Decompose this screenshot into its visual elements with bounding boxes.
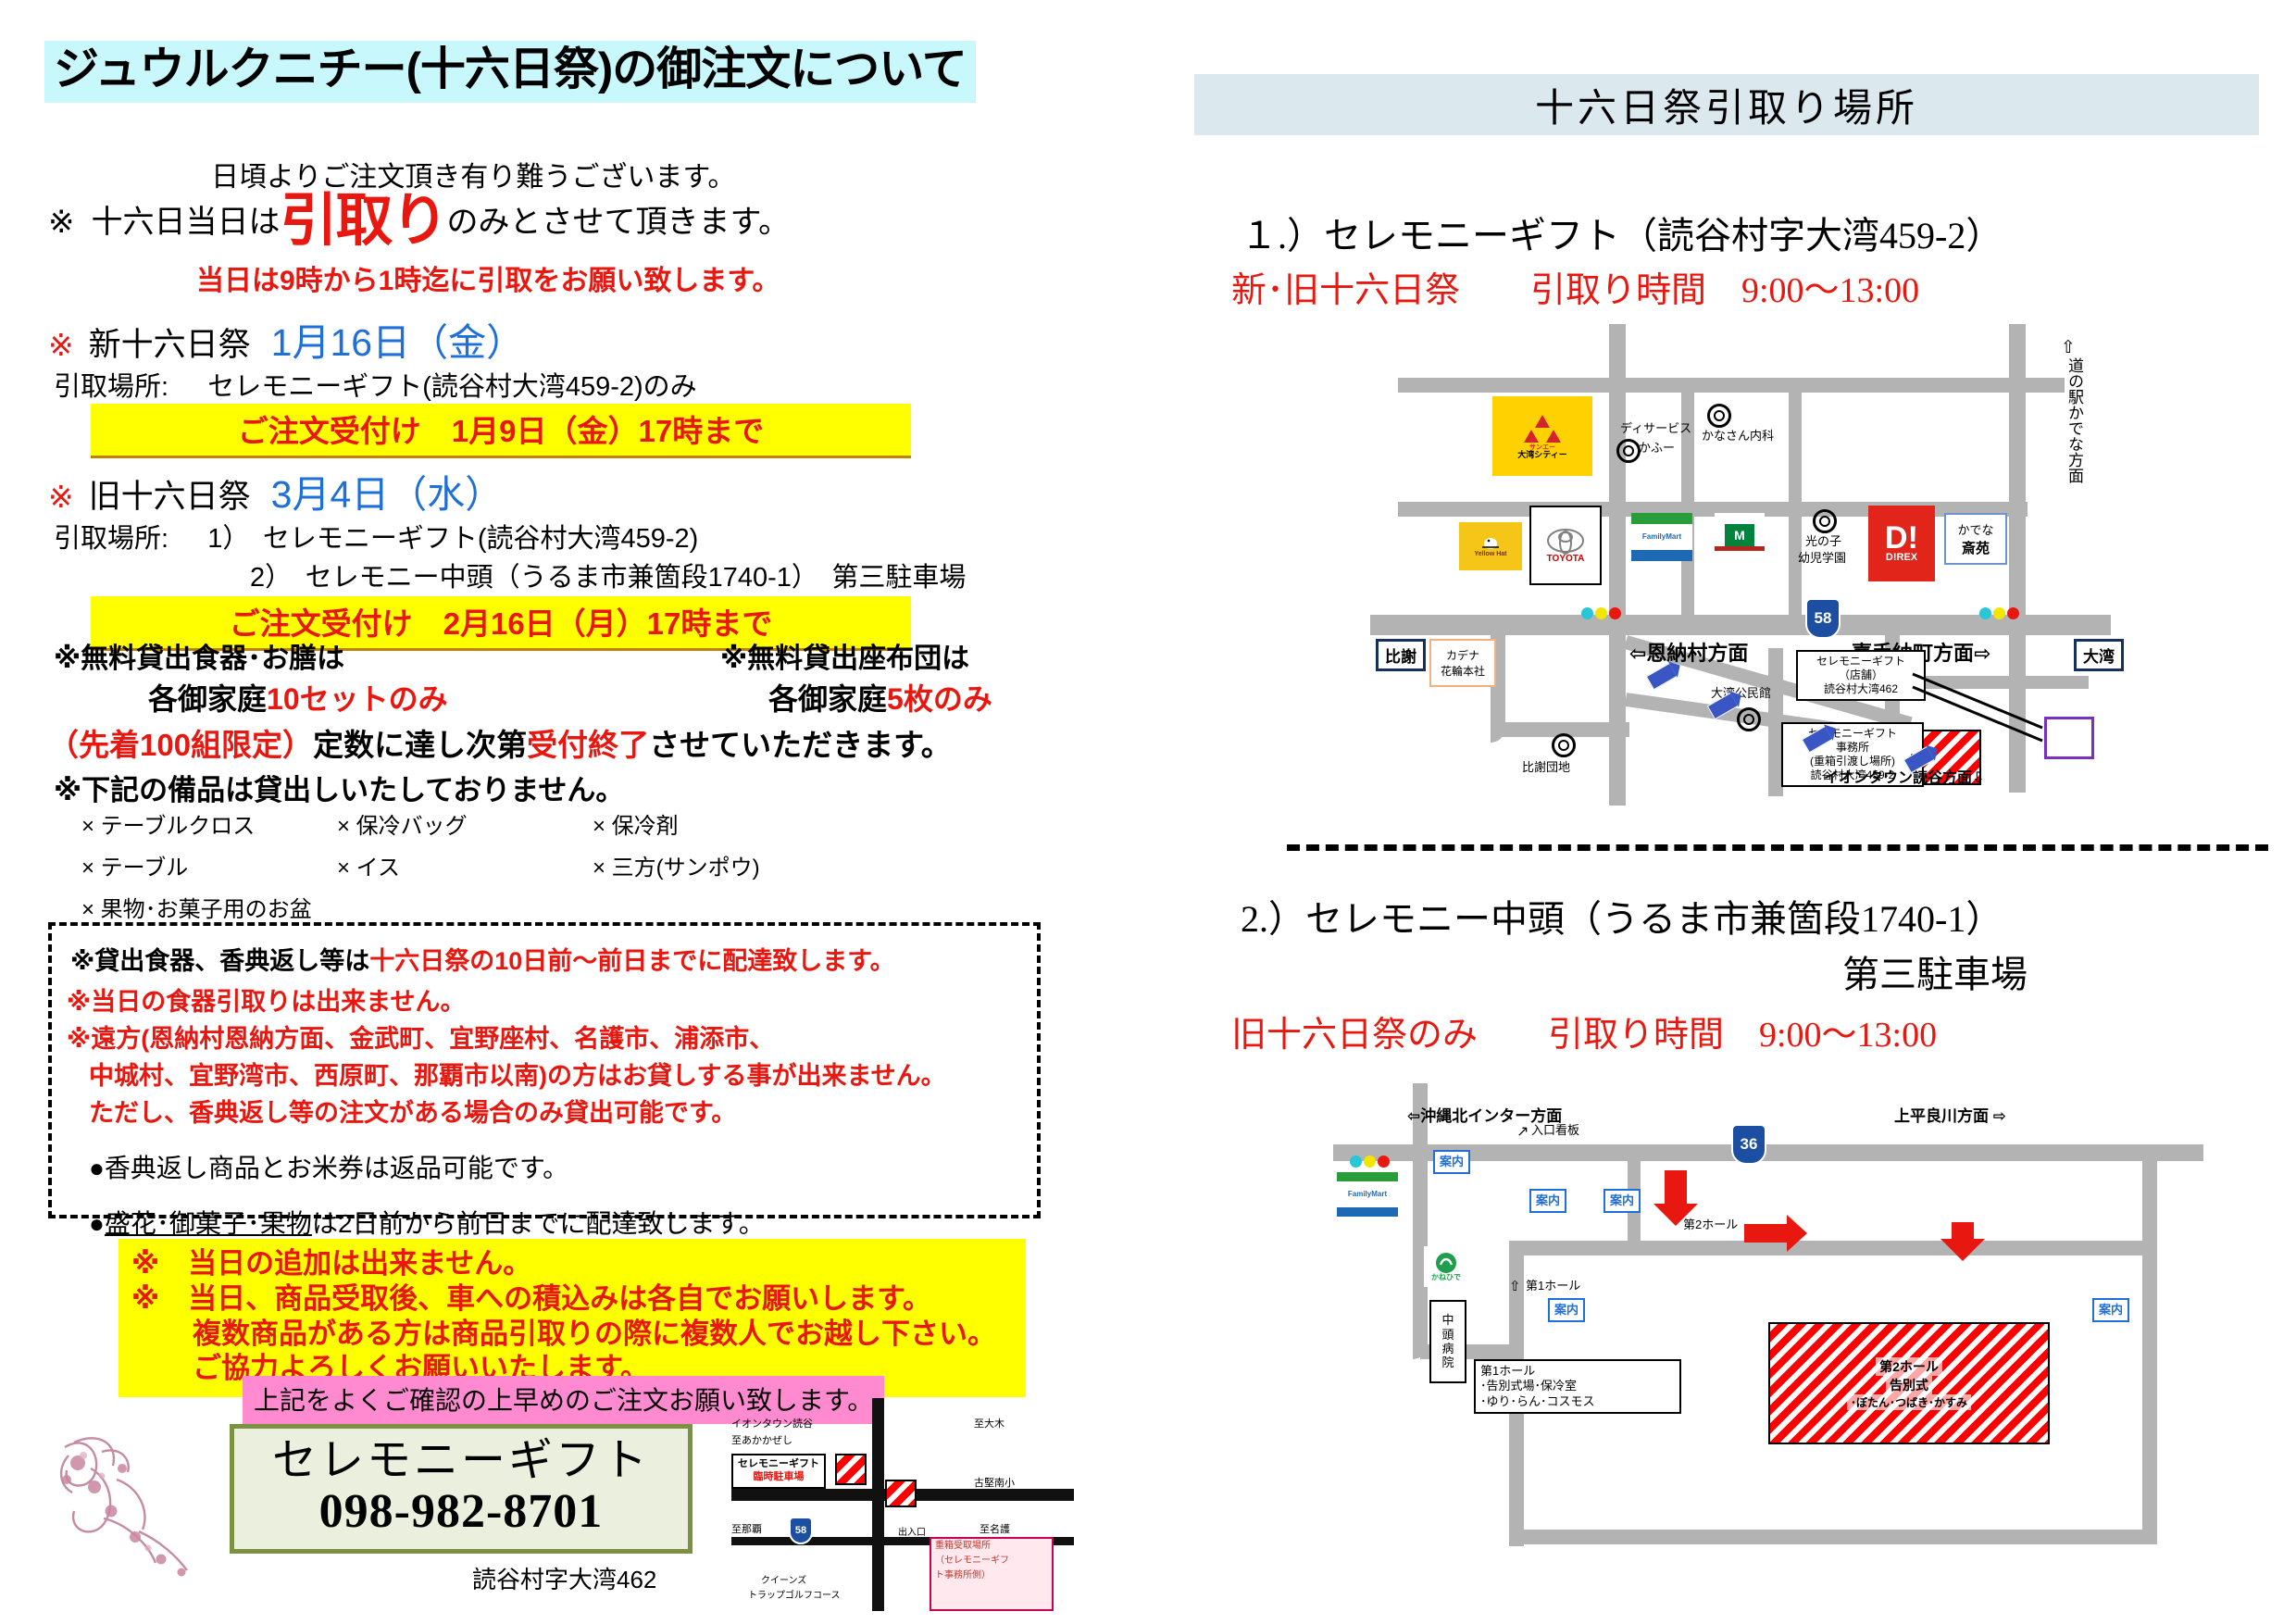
- location-1-heading: １.）セレモニーギフト（読谷村字大湾459-2）: [1241, 206, 2003, 259]
- lending-dishes-limit-plain: 各御家庭: [148, 682, 267, 716]
- old-festival-place-label: 引取場所:: [54, 524, 168, 554]
- note-flower-rest: は2日前から前日までに配達致します。: [312, 1209, 765, 1238]
- hall2-info-l3: ･ぼたん･つばき･かすみ: [1847, 1394, 1971, 1410]
- right-section-title: 十六日祭引取り場所: [1194, 74, 2259, 135]
- map1-hikarinoko-ring-icon: [1813, 509, 1837, 533]
- note-delivery-line: ※貸出食器、香典返し等は十六日祭の10日前～前日までに配達致します。: [70, 941, 895, 977]
- map1-hikarinoko-l1: 光の子: [1805, 535, 1841, 549]
- hall2-info-l1: 第2ホール: [1876, 1357, 1942, 1376]
- sanei-store: 大湾シティー: [1517, 451, 1566, 459]
- company-phone: 098-982-8701: [319, 1485, 604, 1538]
- map-ceremony-nakagami: ⇦沖縄北インター方面 上平良川方面 ⇨ 入口看板 ↗ FamilyMart 36…: [1333, 1083, 2203, 1611]
- old-festival-place-1: 引取場所: 1） セレモニーギフト(読谷村大湾459-2): [54, 517, 698, 556]
- no-rent-item: × テーブルクロス: [81, 807, 337, 840]
- note-delivery-black: ※貸出食器、香典返し等は: [70, 947, 369, 975]
- direx-logo: D! D!REX: [1868, 506, 1935, 581]
- sanei-mark-icon: [1523, 413, 1562, 444]
- kome-mark-icon: ※: [48, 479, 74, 515]
- sanei-logo: サンエー 大湾シティー: [1492, 396, 1592, 476]
- map2-annai-5: 案内: [2092, 1298, 2129, 1322]
- new-festival-accept-bar: ご注文受付け 1月9日（金）17時まで: [91, 404, 911, 458]
- yellow-line-2: ※ 当日、商品受取後、車への積込みは各自でお願いします。: [131, 1281, 1013, 1317]
- pickup-notice-emphasis: 引取り: [281, 198, 447, 244]
- section-divider: [1287, 844, 2268, 851]
- shop-purple-marker: [2044, 717, 2094, 759]
- kanehide-logo: かねひで: [1424, 1246, 1468, 1287]
- mini-road-v: [872, 1398, 884, 1611]
- floral-ornament-icon: [46, 1415, 259, 1591]
- map1-dayservice-l2: かふー: [1639, 442, 1675, 456]
- mini-juubako-l3: ト事務所側）: [935, 1570, 991, 1580]
- pickup-notice-line: ※ 十六日当日は 引取り のみとさせて頂きます。: [48, 191, 790, 242]
- no-rent-item: × 三方(サンポウ): [593, 849, 848, 881]
- map2-route-36-icon: 36: [1731, 1124, 1766, 1165]
- map1-hija-danchi-ring-icon: [1552, 733, 1576, 757]
- toyota-logo: TOYOTA: [1529, 506, 1602, 585]
- nakagami-hospital-l4: 院: [1441, 1355, 1454, 1369]
- map1-up-arrow-icon: ⇧: [2061, 337, 2076, 358]
- note-flower-underline: 盛花･御菓子･果物: [105, 1209, 312, 1238]
- hall1-info-box: 第1ホール ･告別式場･保冷室 ･ゆり･らん･コスモス: [1474, 1359, 1681, 1414]
- hall2-info-l2: 告別式: [1886, 1376, 1932, 1394]
- note-remote-area-3: ただし、香典返し等の注文がある場合のみ貸出可能です。: [89, 1093, 736, 1129]
- map2-annai-3: 案内: [1603, 1189, 1641, 1213]
- old-festival-date: 3月4日（水）: [271, 463, 504, 518]
- map1-road-v2: [1681, 378, 1694, 635]
- map1-kanasan-ring-icon: [1707, 404, 1731, 428]
- mini-label-akakaze: 至あかかぜし: [731, 1435, 792, 1446]
- first-come-limit-line: （先着100組限定）定数に達し次第受付終了させていただきます。: [48, 720, 952, 765]
- map1-michinoeki-label: 道の駅かでな方面: [2065, 357, 2083, 483]
- mini-label-queens-1: クイーンズ: [761, 1576, 806, 1586]
- kome-mark-icon: ※: [48, 204, 75, 241]
- mini-label-furugen: 古堅南小: [974, 1478, 1015, 1489]
- new-festival-date: 1月16日（金）: [271, 311, 524, 367]
- no-rent-row: × テーブルクロス × 保冷バッグ × 保冷剤: [81, 807, 1007, 840]
- mini-hatch-parking-2: [885, 1480, 917, 1507]
- mini-hatch-parking-1: [835, 1454, 867, 1485]
- location-2-heading: 2.）セレモニー中頭（うるま市兼箇段1740-1）: [1241, 889, 2003, 943]
- note-return-policy: ●香典返し商品とお米券は返品可能です。: [89, 1148, 568, 1185]
- map1-road-v1: [1609, 324, 1626, 635]
- mini-juubako-l2: （セレモニーギフ: [935, 1555, 1009, 1566]
- shop-info-l2: （店舗）: [1803, 668, 1919, 682]
- yellow-line-3: 複数商品がある方は商品引取りの際に複数人でお越し下さい。: [131, 1317, 1013, 1352]
- important-yellow-box: ※ 当日の追加は出来ません。 ※ 当日、商品受取後、車への積込みは各自でお願いし…: [119, 1239, 1026, 1397]
- map2-road-bottom: [1509, 1530, 2157, 1544]
- map1-road-v4: [2009, 324, 2026, 635]
- map2-annai-2: 案内: [1529, 1189, 1566, 1213]
- lending-cushion-limit-plain: 各御家庭: [768, 682, 887, 716]
- yellowhat-logo: Yellow Hat: [1459, 522, 1522, 570]
- yellowhat-text: Yellow Hat: [1474, 551, 1506, 557]
- nakagami-hospital-l2: 頭: [1441, 1328, 1454, 1342]
- new-festival-place-value: セレモニーギフト(読谷村大湾459-2)のみ: [207, 372, 697, 402]
- map2-entrance-sign-label: 入口看板: [1531, 1124, 1579, 1138]
- map2-road-h-mid: [1509, 1241, 2157, 1255]
- new-festival-label: 新十六日祭: [89, 319, 251, 366]
- no-rent-item: × 保冷バッグ: [337, 807, 593, 840]
- mini-label-aeon: イオンタウン読谷: [731, 1418, 813, 1430]
- old-festival-label: 旧十六日祭: [89, 470, 251, 518]
- map1-onna-direction: ⇦恩納村方面: [1629, 643, 1748, 666]
- map2-hall2-label: 第2ホール: [1683, 1218, 1738, 1232]
- map1-hija-danchi: 比謝団地: [1522, 761, 1570, 775]
- bullet-icon: ●: [89, 1209, 105, 1238]
- mini-box-temp-parking-l2: 臨時駐車場: [738, 1471, 819, 1484]
- kadena-saien-l2: 斎苑: [1962, 538, 1990, 557]
- old-festival-place-value-1: 1） セレモニーギフト(読谷村大湾459-2): [207, 524, 698, 554]
- map1-hikarinoko-l2: 幼児学園: [1798, 552, 1846, 566]
- page-title: ジュウルクニチー(十六日祭)の御注文について: [44, 41, 976, 103]
- direx-text: D!REX: [1886, 553, 1917, 564]
- mini-box-temp-parking: セレモニーギフト 臨時駐車場: [731, 1454, 826, 1489]
- map1-route-58-icon: 58: [1805, 598, 1841, 639]
- lending-cushion-limit: 各御家庭5枚のみ: [768, 676, 992, 718]
- kadena-hanawa-box: カデナ 花輪本社: [1429, 639, 1496, 687]
- mos-mark-icon: M: [1725, 524, 1754, 546]
- no-rent-item: × イス: [337, 849, 593, 881]
- yellowhat-bird-icon: [1480, 534, 1501, 551]
- mini-label-nago: 至名護: [980, 1524, 1010, 1535]
- old-festival-place-2: 2） セレモニー中頭（うるま市兼箇段1740-1） 第三駐車場: [250, 556, 966, 594]
- map1-aeon-direction: イオンタウン読谷方面⇩: [1824, 770, 1984, 787]
- nakagami-hospital-box: 中 頭 病 院: [1429, 1300, 1466, 1383]
- map2-road-v-right: [2142, 1144, 2157, 1543]
- map2-entrance-arrow-icon: ↗: [1516, 1122, 1529, 1141]
- map2-annai-1: 案内: [1433, 1150, 1470, 1174]
- first-come-closed: 受付終了: [527, 728, 649, 762]
- no-rent-item: × テーブル: [81, 849, 337, 881]
- map2-annai-4: 案内: [1548, 1298, 1585, 1322]
- location-2-heading-2: 第三駐車場: [1842, 944, 2028, 998]
- kadena-saien-box: かでな 斎苑: [1944, 513, 2007, 565]
- company-name: セレモニーギフト: [272, 1439, 650, 1483]
- nakagami-hospital-l1: 中: [1441, 1313, 1454, 1327]
- mini-label-queens-2: トラップゴルフコース: [748, 1591, 841, 1601]
- kanehide-mark-icon: [1433, 1252, 1459, 1274]
- mini-box-temp-parking-l1: セレモニーギフト: [738, 1458, 819, 1471]
- mos-burger-logo: M: [1715, 513, 1765, 561]
- no-rent-heading: ※下記の備品は貸出しいたしておりません。: [54, 767, 624, 808]
- hall1-info-l2: ･告別式場･保冷室: [1480, 1379, 1675, 1393]
- familymart-text: FamilyMart: [1642, 533, 1681, 541]
- first-come-plain: 定数に達し次第: [313, 728, 527, 762]
- map2-kamihirakawa-direction: 上平良川方面 ⇨: [1894, 1107, 2006, 1125]
- toyota-mark-icon: [1546, 527, 1585, 555]
- old-festival-heading: ※ 旧十六日祭 3月4日（水）: [48, 463, 503, 518]
- company-info-box: セレモニーギフト 098-982-8701: [230, 1424, 693, 1554]
- new-festival-place: 引取場所: セレモニーギフト(読谷村大湾459-2)のみ: [54, 365, 697, 404]
- no-rent-item: × 果物･お菓子用のお盆: [81, 891, 600, 923]
- location-2-hours: 旧十六日祭のみ 引取り時間 9:00～13:00: [1231, 1006, 1937, 1056]
- map1-hija-marker: 比謝: [1376, 639, 1426, 671]
- pickup-notice-post: のみとさせて頂きます。: [447, 196, 791, 242]
- kadena-hanawa-l2: 花輪本社: [1441, 663, 1485, 679]
- flyer-page: ジュウルクニチー(十六日祭)の御注文について 日頃よりご注文頂き有り難うございま…: [0, 0, 2296, 1624]
- shop-info-l1: セレモニーギフト: [1803, 655, 1919, 668]
- shop-info-l3: 読谷村大湾462: [1803, 682, 1919, 696]
- hall1-info-l1: 第1ホール: [1480, 1364, 1675, 1379]
- lending-cushion-limit-red: 5枚のみ: [887, 682, 992, 716]
- kanehide-text: かねひで: [1431, 1274, 1461, 1281]
- mini-label-entrance: 出入口: [898, 1528, 926, 1538]
- kadena-saien-l1: かでな: [1957, 520, 1993, 538]
- no-rent-item: × 保冷剤: [593, 807, 848, 840]
- no-rent-row: × テーブル × イス × 三方(サンポウ): [81, 849, 1007, 881]
- mini-label-oogi: 至大木: [974, 1418, 1004, 1430]
- familymart-text-2: FamilyMart: [1348, 1191, 1387, 1198]
- first-come-tail: させていただきます。: [649, 728, 952, 762]
- lending-dishes-limit: 各御家庭10セットのみ: [148, 676, 448, 718]
- company-address: 読谷村字大湾462: [472, 1561, 656, 1595]
- no-rent-item-grid: × テーブルクロス × 保冷バッグ × 保冷剤 × テーブル × イス × 三方…: [81, 807, 1007, 932]
- lending-cushion-head: ※無料貸出座布団は: [720, 635, 969, 676]
- map1-kanasan: かなさん内科: [1702, 430, 1774, 443]
- office-info-l3: (重箱引渡し場所): [1788, 755, 1917, 768]
- hall1-info-l3: ･ゆり･らん･コスモス: [1480, 1394, 1675, 1409]
- map1-oowan-marker: 大湾: [2074, 639, 2124, 671]
- mini-juubako-box: 重箱受取場所 （セレモニーギフ ト事務所側）: [930, 1537, 1054, 1611]
- map1-dayservice-l1: ディサービス: [1620, 422, 1691, 436]
- location-1-hours: 新･旧十六日祭 引取り時間 9:00～13:00: [1231, 261, 1919, 312]
- left-column: ジュウルクニチー(十六日祭)の御注文について 日頃よりご注文頂き有り難うございま…: [0, 0, 1190, 1624]
- map1-traffic-light-1: [1581, 607, 1621, 619]
- kadena-hanawa-l1: カデナ: [1446, 647, 1479, 663]
- direx-d-icon: D!: [1885, 524, 1918, 553]
- note-remote-area-1: ※遠方(恩納村恩納方面、金武町、宜野座村、名護市、浦添市、: [67, 1018, 774, 1055]
- map1-kouminkan-ring-icon: [1737, 707, 1761, 731]
- new-festival-heading: ※ 新十六日祭 1月16日（金）: [48, 311, 524, 367]
- map1-road-v4b: [2009, 635, 2026, 793]
- map1-traffic-light-2: [1979, 607, 2019, 619]
- shop-info-box: セレモニーギフト （店舗） 読谷村大湾462: [1796, 650, 1926, 701]
- nakagami-hospital-l3: 病: [1441, 1342, 1454, 1355]
- new-festival-place-label: 引取場所:: [54, 372, 168, 402]
- pickup-time-note: 当日は9時から1時迄に引取をお願い致します。: [196, 257, 780, 298]
- lending-dishes-head: ※無料貸出食器･お膳は: [54, 635, 344, 676]
- kome-mark-icon: ※: [48, 327, 74, 363]
- map1-michinoeki-direction: 道の駅かでな方面: [2063, 357, 2086, 589]
- map2-traffic-light-1: [1350, 1156, 1390, 1168]
- map1-dayservice-ring-icon: [1616, 439, 1641, 463]
- note-no-sameday-pickup: ※当日の食器引取りは出来ません。: [67, 981, 465, 1018]
- map1-road-v1b: [1609, 630, 1626, 806]
- first-come-count: （先着100組限定）: [48, 728, 313, 762]
- note-flower-delivery: ●盛花･御菓子･果物は2日前から前日までに配達致します。: [89, 1204, 765, 1241]
- mini-route-58-icon: 58: [789, 1517, 813, 1544]
- yellow-line-1: ※ 当日の追加は出来ません。: [131, 1246, 1013, 1281]
- mini-map-temporary-parking: イオンタウン読谷 至あかかぜし 至大木 至那覇 至名護 古堅南小 出入口 クイー…: [731, 1398, 1074, 1611]
- familymart-logo-2: FamilyMart: [1337, 1172, 1398, 1217]
- map1-road-top: [1398, 378, 2065, 393]
- toyota-text: TOYOTA: [1547, 555, 1585, 565]
- map-ceremony-gift: サンエー 大湾シティー ディサービス かふー かなさん内科 Yellow Hat…: [1370, 324, 2185, 815]
- note-delivery-red: 十六日祭の10日前～前日までに配達致します。: [369, 947, 894, 975]
- map1-direction-arrow-1: [1646, 663, 1678, 691]
- hall2-hatched-area: 第2ホール 告別式 ･ぼたん･つばき･かすみ: [1768, 1322, 2050, 1444]
- mini-label-naha: 至那覇: [731, 1524, 762, 1535]
- no-rent-row: × 果物･お菓子用のお盆: [81, 891, 1007, 923]
- familymart-logo-1: FamilyMart: [1631, 513, 1692, 561]
- note-remote-area-2: 中城村、宜野湾市、西原町、那覇市以南)の方はお貸しする事が出来ません。: [89, 1056, 946, 1092]
- map1-road-v3: [1789, 378, 1802, 615]
- pickup-notice-pre: 十六日当日は: [92, 196, 281, 242]
- lending-dishes-limit-red: 10セットのみ: [267, 682, 448, 716]
- mini-juubako-l1: 重箱受取場所: [935, 1541, 991, 1551]
- map2-hall1-label: 第1ホール: [1526, 1280, 1580, 1293]
- svg-text:M: M: [1734, 528, 1745, 543]
- map2-hall1-arrow-icon: ⇧: [1509, 1278, 1521, 1294]
